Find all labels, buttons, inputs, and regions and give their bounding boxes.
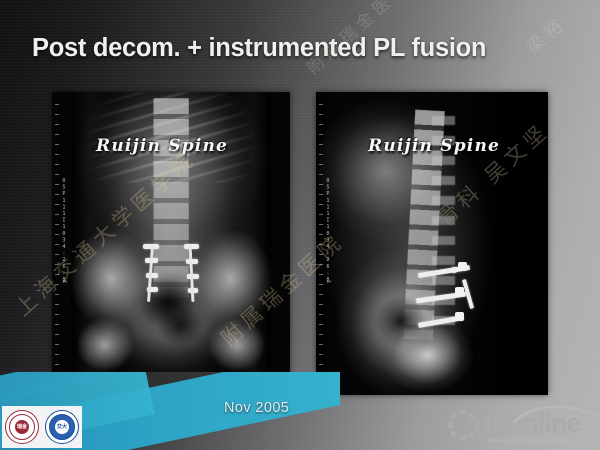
emblem-jiaotong-caption: 交大 (45, 423, 79, 430)
xray-image-ap[interactable]: 05P111I1034:26:8 1 Ruijin Spine (52, 92, 290, 395)
presentation-slide: Post decom. + instrumented PL fusion (0, 0, 600, 450)
xray-image-lateral[interactable]: 05P111I1034:26:8 1 Ruijin Spine (316, 92, 548, 395)
ap-bowel-gas (131, 274, 212, 347)
ap-ruijin-spine-label: Ruijin Spine (96, 136, 228, 156)
ruijin-hospital-emblem-icon: 瑞金 (5, 410, 39, 444)
ap-film-ruler (55, 104, 59, 383)
lateral-ruijin-spine-label: Ruijin Spine (368, 136, 500, 156)
lateral-timestamp-secondary: 1 (325, 280, 331, 283)
orthonline-url: www.orthonline.com.cn (488, 435, 581, 445)
ap-timestamp-secondary: 1 (61, 280, 67, 283)
orthonline-arc-icon (512, 402, 598, 424)
orthonline-logo[interactable]: rthonline www.orthonline.com.cn (442, 402, 598, 448)
ap-screws-right (188, 244, 195, 317)
lateral-sacrum (386, 328, 490, 395)
ap-screws-left (147, 244, 154, 317)
lateral-film-ruler (319, 104, 323, 383)
emblem-ruijin-caption: 瑞金 (5, 423, 39, 430)
institution-emblems: 瑞金 交大 (2, 406, 82, 448)
date-caption: Nov 2005 (224, 400, 289, 416)
jiaotong-university-emblem-icon: 交大 (45, 410, 79, 444)
lateral-timestamp: 05P111I1034:26:8 (325, 178, 331, 284)
ap-timestamp: 05P111I1034:26:8 (61, 178, 67, 284)
slide-title: Post decom. + instrumented PL fusion (32, 34, 572, 63)
